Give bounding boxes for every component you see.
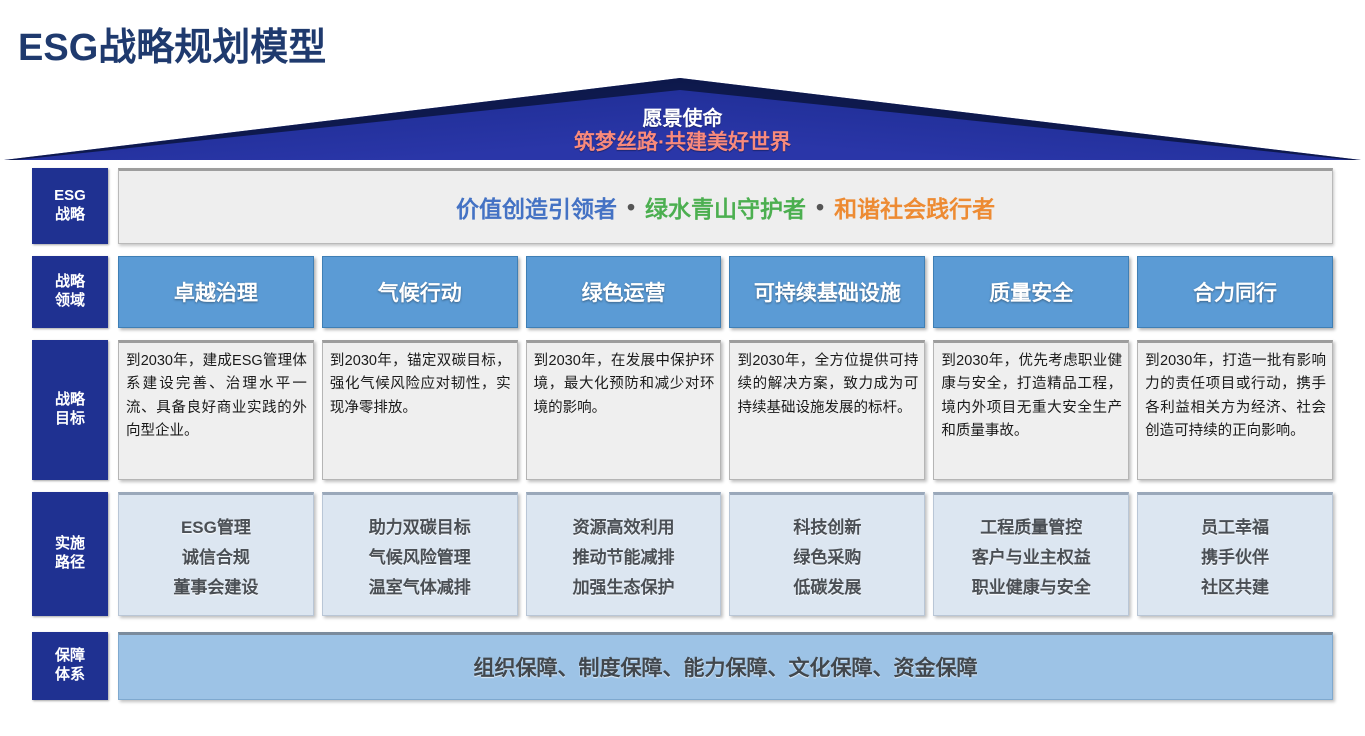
strategy-domain-card-1[interactable]: 卓越治理	[118, 256, 314, 328]
strategy-goal-card-6: 到2030年，打造一批有影响力的责任项目或行动，携手各利益相关方为经济、社会创造…	[1137, 340, 1333, 480]
row-label-esg-strategy-line2: 战略	[55, 206, 85, 225]
row-implementation-paths: 实施 路径 ESG管理诚信合规董事会建设助力双碳目标气候风险管理温室气体减排资源…	[0, 492, 1365, 616]
row-label-strategy-goal: 战略 目标	[32, 340, 108, 480]
implementation-path-item: 客户与业主权益	[972, 543, 1091, 568]
row-esg-strategy: ESG 战略 价值创造引领者•绿水青山守护者•和谐社会践行者	[0, 168, 1365, 244]
row-label-strategy-domain-line2: 领域	[55, 292, 85, 311]
implementation-path-card-1[interactable]: ESG管理诚信合规董事会建设	[118, 492, 314, 616]
implementation-path-item: 社区共建	[1201, 573, 1269, 598]
strategy-goal-card-2: 到2030年，锚定双碳目标，强化气候风险应对韧性，实现净零排放。	[322, 340, 518, 480]
row-label-strategy-goal-line2: 目标	[55, 410, 85, 429]
row-label-strategy-domain-line1: 战略	[55, 273, 85, 292]
esg-strategy-banner: 价值创造引领者•绿水青山守护者•和谐社会践行者	[118, 168, 1333, 244]
strategy-domain-cards: 卓越治理气候行动绿色运营可持续基础设施质量安全合力同行	[118, 256, 1333, 328]
row-label-guarantee-system: 保障 体系	[32, 632, 108, 700]
implementation-path-card-6[interactable]: 员工幸福携手伙伴社区共建	[1137, 492, 1333, 616]
row-label-esg-strategy: ESG 战略	[32, 168, 108, 244]
strategy-goal-cards: 到2030年，建成ESG管理体系建设完善、治理水平一流、具备良好商业实践的外向型…	[118, 340, 1333, 480]
strategy-goal-card-1: 到2030年，建成ESG管理体系建设完善、治理水平一流、具备良好商业实践的外向型…	[118, 340, 314, 480]
implementation-path-card-2[interactable]: 助力双碳目标气候风险管理温室气体减排	[322, 492, 518, 616]
implementation-path-card-5[interactable]: 工程质量管控客户与业主权益职业健康与安全	[933, 492, 1129, 616]
implementation-path-card-4[interactable]: 科技创新绿色采购低碳发展	[729, 492, 925, 616]
row-strategy-goals: 战略 目标 到2030年，建成ESG管理体系建设完善、治理水平一流、具备良好商业…	[0, 340, 1365, 480]
row-label-implementation-path-line1: 实施	[55, 535, 85, 554]
implementation-path-item: 工程质量管控	[980, 513, 1082, 538]
implementation-path-item: 员工幸福	[1201, 513, 1269, 538]
implementation-path-cards: ESG管理诚信合规董事会建设助力双碳目标气候风险管理温室气体减排资源高效利用推动…	[118, 492, 1333, 616]
vision-roof: 愿景使命 筑梦丝路·共建美好世界	[0, 76, 1365, 162]
row-strategy-domains: 战略 领域 卓越治理气候行动绿色运营可持续基础设施质量安全合力同行	[0, 256, 1365, 328]
row-label-strategy-goal-line1: 战略	[55, 391, 85, 410]
strategy-goal-card-3: 到2030年，在发展中保护环境，最大化预防和减少对环境的影响。	[526, 340, 722, 480]
implementation-path-item: 绿色采购	[793, 543, 861, 568]
page-title: ESG战略规划模型	[18, 16, 326, 71]
implementation-path-item: 低碳发展	[793, 573, 861, 598]
implementation-path-item: 推动节能减排	[573, 543, 675, 568]
implementation-path-item: 气候风险管理	[369, 543, 471, 568]
row-label-esg-strategy-line1: ESG	[54, 187, 86, 206]
implementation-path-item: 助力双碳目标	[369, 513, 471, 538]
row-label-implementation-path: 实施 路径	[32, 492, 108, 616]
strategy-goal-card-5: 到2030年，优先考虑职业健康与安全，打造精品工程，境内外项目无重大安全生产和质…	[933, 340, 1129, 480]
esg-strategy-separator: •	[816, 194, 824, 221]
row-guarantee-system: 保障 体系 组织保障、制度保障、能力保障、文化保障、资金保障	[0, 632, 1365, 700]
row-label-guarantee-system-line1: 保障	[55, 647, 85, 666]
strategy-goal-card-4: 到2030年，全方位提供可持续的解决方案，致力成为可持续基础设施发展的标杆。	[729, 340, 925, 480]
esg-strategy-segment-2: 绿水青山守护者	[645, 190, 806, 224]
row-label-strategy-domain: 战略 领域	[32, 256, 108, 328]
esg-strategy-segment-3: 和谐社会践行者	[834, 190, 995, 224]
strategy-domain-card-5[interactable]: 质量安全	[933, 256, 1129, 328]
row-label-implementation-path-line2: 路径	[55, 554, 85, 573]
implementation-path-item: 董事会建设	[173, 573, 258, 598]
strategy-domain-card-6[interactable]: 合力同行	[1137, 256, 1333, 328]
strategy-domain-card-2[interactable]: 气候行动	[322, 256, 518, 328]
implementation-path-item: 温室气体减排	[369, 573, 471, 598]
implementation-path-item: 加强生态保护	[573, 573, 675, 598]
strategy-domain-card-4[interactable]: 可持续基础设施	[729, 256, 925, 328]
esg-strategy-separator: •	[627, 194, 635, 221]
implementation-path-item: 资源高效利用	[573, 513, 675, 538]
implementation-path-item: 科技创新	[793, 513, 861, 538]
strategy-domain-card-3[interactable]: 绿色运营	[526, 256, 722, 328]
esg-strategy-segment-1: 价值创造引领者	[456, 190, 617, 224]
implementation-path-card-3[interactable]: 资源高效利用推动节能减排加强生态保护	[526, 492, 722, 616]
implementation-path-item: 职业健康与安全	[972, 573, 1091, 598]
implementation-path-item: 诚信合规	[182, 543, 250, 568]
row-label-guarantee-system-line2: 体系	[55, 666, 85, 685]
guarantee-system-banner: 组织保障、制度保障、能力保障、文化保障、资金保障	[118, 632, 1333, 700]
implementation-path-item: ESG管理	[181, 513, 251, 538]
roof-shape-icon	[0, 76, 1365, 162]
implementation-path-item: 携手伙伴	[1201, 543, 1269, 568]
